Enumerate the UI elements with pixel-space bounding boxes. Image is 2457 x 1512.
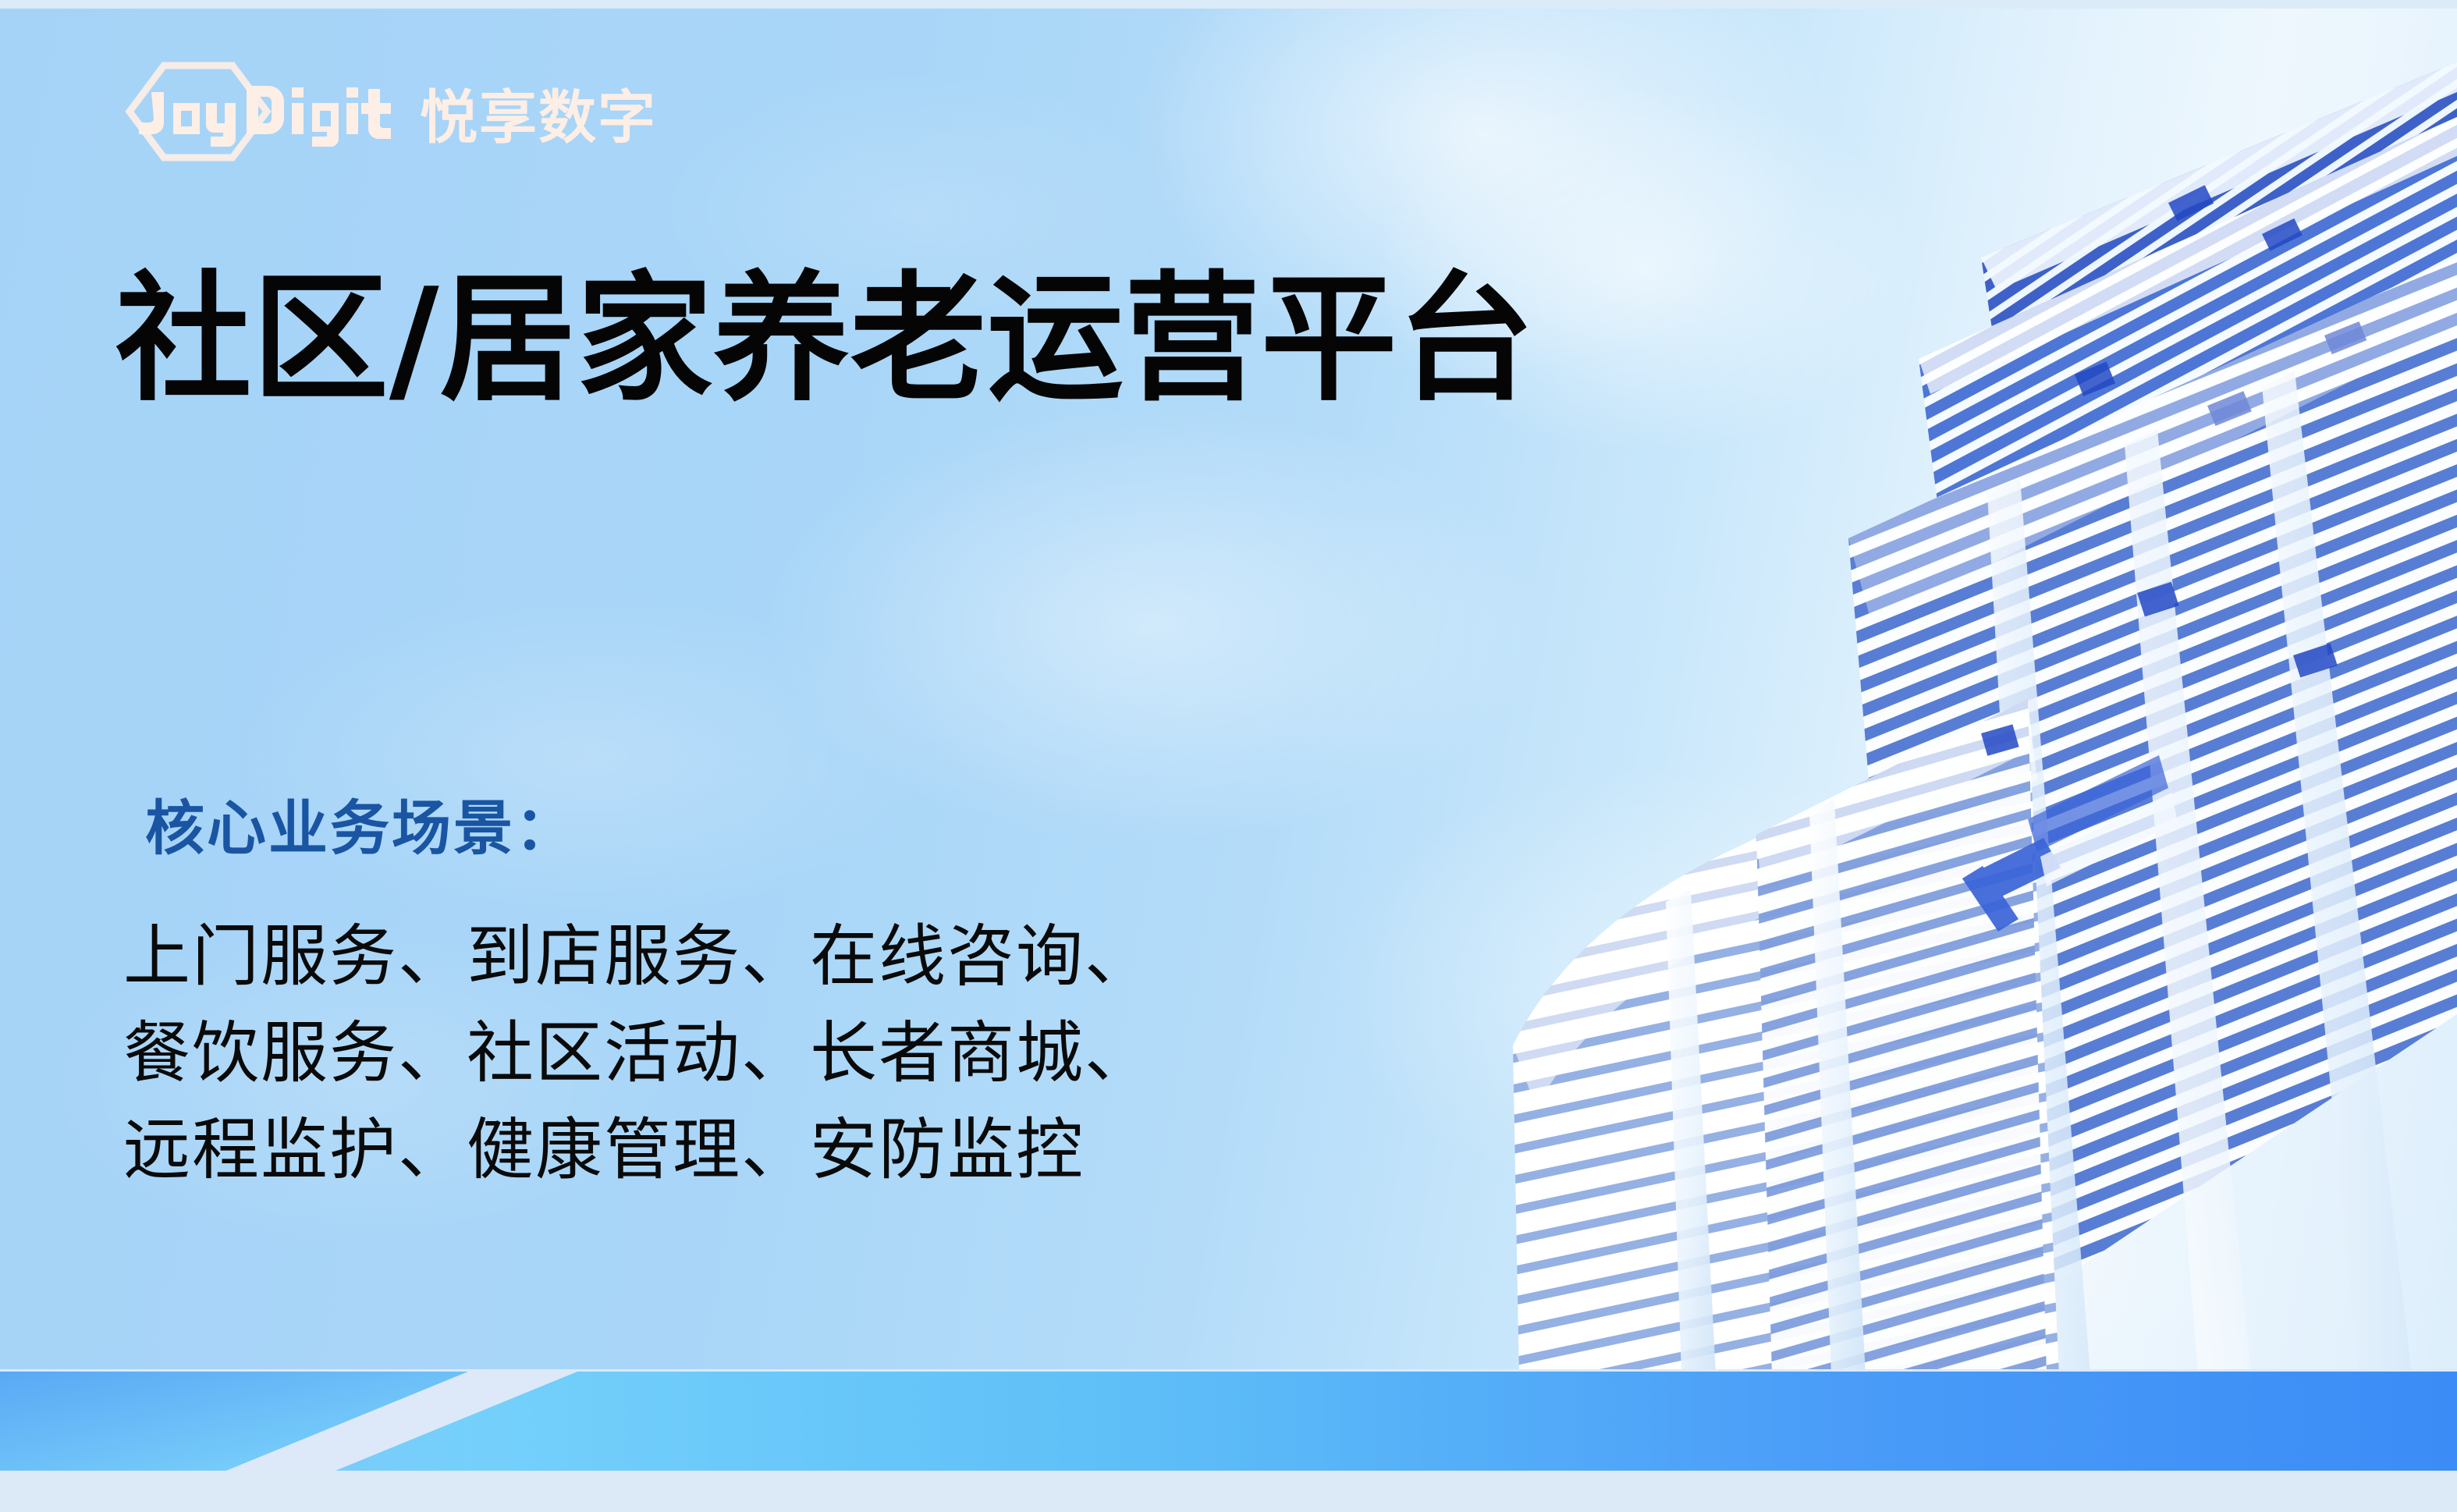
scenario-line: 上门服务、到店服务、在线咨询、 bbox=[123, 919, 1153, 994]
sky-background bbox=[0, 0, 2457, 1512]
brand-logo: 悦享数字 bbox=[117, 61, 663, 162]
scenario-line: 餐饮服务、社区活动、长者商城、 bbox=[123, 1016, 1153, 1091]
presentation-slide: 悦享数字 社区/居家养老运营平台 核心业务场景： 上门服务、到店服务、在线咨询、… bbox=[0, 0, 2457, 1512]
top-edge-strip bbox=[0, 0, 2457, 9]
page-title: 社区/居家养老运营平台 bbox=[115, 267, 1535, 413]
bottom-decoration-band bbox=[0, 1369, 2457, 1512]
scenario-list: 上门服务、到店服务、在线咨询、 餐饮服务、社区活动、长者商城、 远程监护、健康管… bbox=[123, 919, 1153, 1209]
section-label: 核心业务场景： bbox=[145, 780, 577, 866]
logo-wordmark-cn: 悦享数字 bbox=[420, 84, 657, 151]
scenario-line: 远程监护、健康管理、安防监控 bbox=[123, 1113, 1153, 1187]
